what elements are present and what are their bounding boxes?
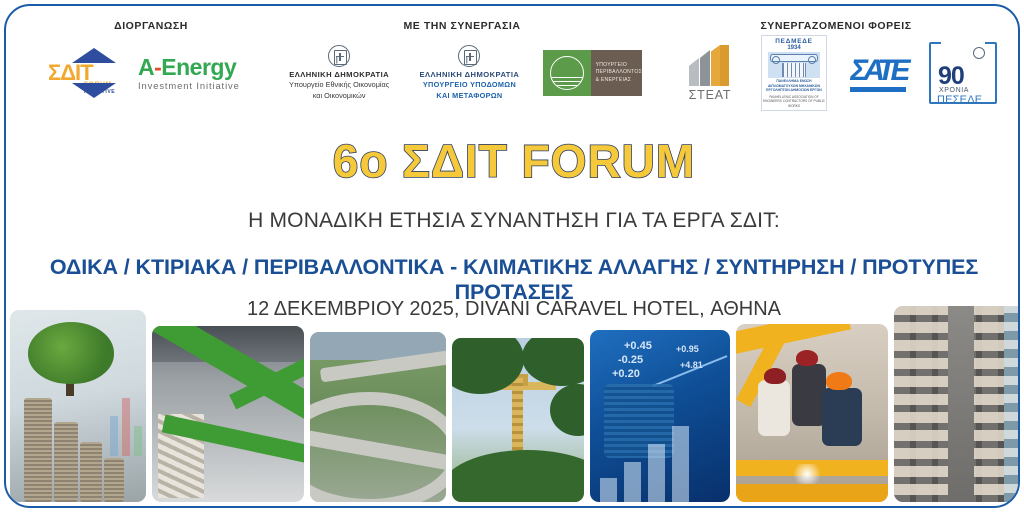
event-title: 6ο ΣΔΙΤ FORUM bbox=[6, 134, 1020, 188]
worker bbox=[822, 388, 862, 446]
a-energy-logo: A-Energy Investment Initiative bbox=[138, 55, 254, 91]
triangle-down-icon bbox=[72, 83, 116, 98]
tree-canopy bbox=[28, 322, 114, 384]
ministry-republic-label: ΕΛΛΗΝΙΚΗ ΔΗΜΟΚΡΑΤΙΑ bbox=[412, 70, 526, 79]
pedmede-title: ΠΕΔΜΕΔΕ bbox=[762, 38, 826, 45]
steat-logo: ΣΤΕΑΤ bbox=[675, 44, 745, 102]
cross-icon bbox=[336, 56, 345, 58]
steat-building-icon bbox=[687, 44, 733, 86]
photo-tree-on-coin-stacks bbox=[10, 310, 146, 502]
ministry-name-line1: Υπουργείο Εθνικής Οικονομίας bbox=[282, 80, 396, 90]
ticker-value-3: +0.20 bbox=[612, 368, 640, 380]
group-title-partners: ΣΥΝΕΡΓΑΖΟΜΕΝΟΙ ΦΟΡΕΙΣ bbox=[656, 6, 1016, 32]
pedmede-subtitle-gr: ΠΑΝΕΛΛΗΝΙΑ ΕΝΩΣΗ ΔΙΠΛΩΜΑΤΟΥΧΩΝ ΜΗΧΑΝΙΚΩΝ… bbox=[762, 79, 826, 93]
env-line3: & ΕΝΕΡΓΕΙΑΣ bbox=[596, 77, 642, 84]
sate-logo: ΣΑΤΕ bbox=[843, 55, 913, 92]
hard-hat-icon bbox=[796, 350, 818, 366]
ticker-value-4: +0.95 bbox=[676, 344, 699, 354]
ticker-value-2: -0.25 bbox=[618, 354, 643, 366]
env-line2: ΠΕΡΙΒΑΛΛΟΝΤΟΣ bbox=[596, 69, 642, 76]
welding-spark bbox=[790, 464, 824, 484]
pesede-years-label: ΧΡΟΝΙΑ bbox=[939, 87, 969, 94]
ministry-name-line2: ΚΑΙ ΜΕΤΑΦΟΡΩΝ bbox=[412, 91, 526, 101]
foliage bbox=[550, 384, 584, 436]
photo-strip: +0.45 -0.25 +0.20 +0.95 +4.81 bbox=[6, 310, 1020, 506]
foliage bbox=[522, 338, 584, 386]
sate-wordmark: ΣΑΤΕ bbox=[843, 55, 913, 87]
pedmede-logo: ΠΕΔΜΕΔΕ 1934 ΠΑΝΕΛΛΗΝΙΑ ΕΝΩΣΗ ΔΙΠΛΩΜΑΤΟΥ… bbox=[761, 35, 827, 111]
env-line1: ΥΠΟΥΡΓΕΙΟ bbox=[596, 62, 642, 69]
group-title-cooperation: ΜΕ ΤΗΝ ΣΥΝΕΡΓΑΣΙΑ bbox=[282, 6, 642, 32]
steel-beam bbox=[736, 324, 851, 354]
worker bbox=[792, 364, 826, 426]
steel-beam bbox=[736, 484, 888, 502]
logo-group-partners: ΣΥΝΕΡΓΑΖΟΜΕΝΟΙ ΦΟΡΕΙΣ ΣΤΕΑΤ ΠΕΔΜΕΔΕ 1934… bbox=[656, 6, 1016, 130]
ministry-name-line2: και Οικονομικών bbox=[282, 91, 396, 101]
a-energy-word: Energy bbox=[161, 54, 236, 80]
pedmede-year: 1934 bbox=[762, 45, 826, 51]
greek-coat-of-arms-icon bbox=[328, 45, 350, 67]
building-core bbox=[948, 306, 974, 502]
env-emblem-panel bbox=[543, 50, 591, 96]
coin-stacks bbox=[24, 398, 124, 502]
ministry-environment-energy-logo: ΥΠΟΥΡΓΕΙΟ ΠΕΡΙΒΑΛΛΟΝΤΟΣ & ΕΝΕΡΓΕΙΑΣ bbox=[543, 50, 642, 96]
steat-label: ΣΤΕΑΤ bbox=[675, 88, 745, 102]
pedmede-subtitle-en: PANHELLENIC ASSOCIATION OF ENGINEERS CON… bbox=[762, 95, 826, 108]
hard-hat-icon bbox=[826, 372, 852, 390]
sdit-forum-initiative-logo: ΣΔΙΤ FORUM INITIATIVE bbox=[48, 47, 122, 99]
pesede-90-years-logo: 90 ΧΡΟΝΙΑ ΠΕΣΕΔΕ bbox=[929, 42, 997, 104]
ionic-column-icon bbox=[768, 52, 820, 78]
greek-coat-of-arms-icon bbox=[458, 45, 480, 67]
sdit-wordmark: ΣΔΙΤ bbox=[48, 62, 93, 83]
sate-underline bbox=[850, 87, 906, 92]
sun-landscape-icon bbox=[550, 56, 584, 90]
foliage bbox=[452, 450, 584, 502]
ministry-infrastructure-transport-logo: ΕΛΛΗΝΙΚΗ ΔΗΜΟΚΡΑΤΙΑ ΥΠΟΥΡΓΕΙΟ ΥΠΟΔΟΜΩΝ Κ… bbox=[412, 45, 526, 100]
env-text-panel: ΥΠΟΥΡΓΕΙΟ ΠΕΡΙΒΑΛΛΟΝΤΟΣ & ΕΝΕΡΓΕΙΑΣ bbox=[591, 50, 642, 96]
photo-highway-interchange bbox=[310, 332, 446, 502]
photo-apartment-tower bbox=[894, 306, 1020, 502]
poster-frame: ΔΙΟΡΓΑΝΩΣΗ ΣΔΙΤ FORUM INITIATIVE A-Energ… bbox=[4, 4, 1020, 508]
cross-icon bbox=[466, 56, 475, 58]
bar-chart bbox=[600, 426, 689, 502]
hard-hat-icon bbox=[764, 368, 786, 384]
photo-recycling-plant bbox=[152, 326, 304, 502]
logo-group-cooperation: ΜΕ ΤΗΝ ΣΥΝΕΡΓΑΣΙΑ ΕΛΛΗΝΙΚΗ ΔΗΜΟΚΡΑΤΙΑ Υπ… bbox=[282, 6, 642, 130]
a-energy-letter-a: A bbox=[138, 54, 154, 80]
pesede-name-label: ΠΕΣΕΔΕ bbox=[937, 94, 982, 106]
group-title-organizer: ΔΙΟΡΓΑΝΩΣΗ bbox=[26, 6, 276, 32]
glass-balconies bbox=[1004, 306, 1018, 502]
pesede-emblem-icon bbox=[973, 47, 985, 59]
logo-band: ΔΙΟΡΓΑΝΩΣΗ ΣΔΙΤ FORUM INITIATIVE A-Energ… bbox=[6, 6, 1020, 130]
photo-construction-crane bbox=[452, 338, 584, 502]
pesede-number: 90 bbox=[938, 64, 964, 88]
event-subtitle: Η ΜΟΝΑΔΙΚΗ ΕΤΗΣΙΑ ΣΥΝΑΝΤΗΣΗ ΓΙΑ ΤΑ ΕΡΓΑ … bbox=[6, 209, 1020, 233]
a-energy-tagline: Investment Initiative bbox=[138, 80, 254, 91]
ministry-national-economy-finance-logo: ΕΛΛΗΝΙΚΗ ΔΗΜΟΚΡΑΤΙΑ Υπουργείο Εθνικής Οι… bbox=[282, 45, 396, 100]
photo-financial-data: +0.45 -0.25 +0.20 +0.95 +4.81 bbox=[590, 330, 730, 502]
ticker-value-1: +0.45 bbox=[624, 340, 652, 352]
worker bbox=[758, 380, 790, 436]
logo-group-organizer: ΔΙΟΡΓΑΝΩΣΗ ΣΔΙΤ FORUM INITIATIVE A-Energ… bbox=[26, 6, 276, 130]
ministry-republic-label: ΕΛΛΗΝΙΚΗ ΔΗΜΟΚΡΑΤΙΑ bbox=[282, 70, 396, 79]
photo-construction-workers bbox=[736, 324, 888, 502]
ministry-name-line1: ΥΠΟΥΡΓΕΙΟ ΥΠΟΔΟΜΩΝ bbox=[412, 80, 526, 90]
a-energy-wordmark: A-Energy bbox=[138, 55, 254, 79]
